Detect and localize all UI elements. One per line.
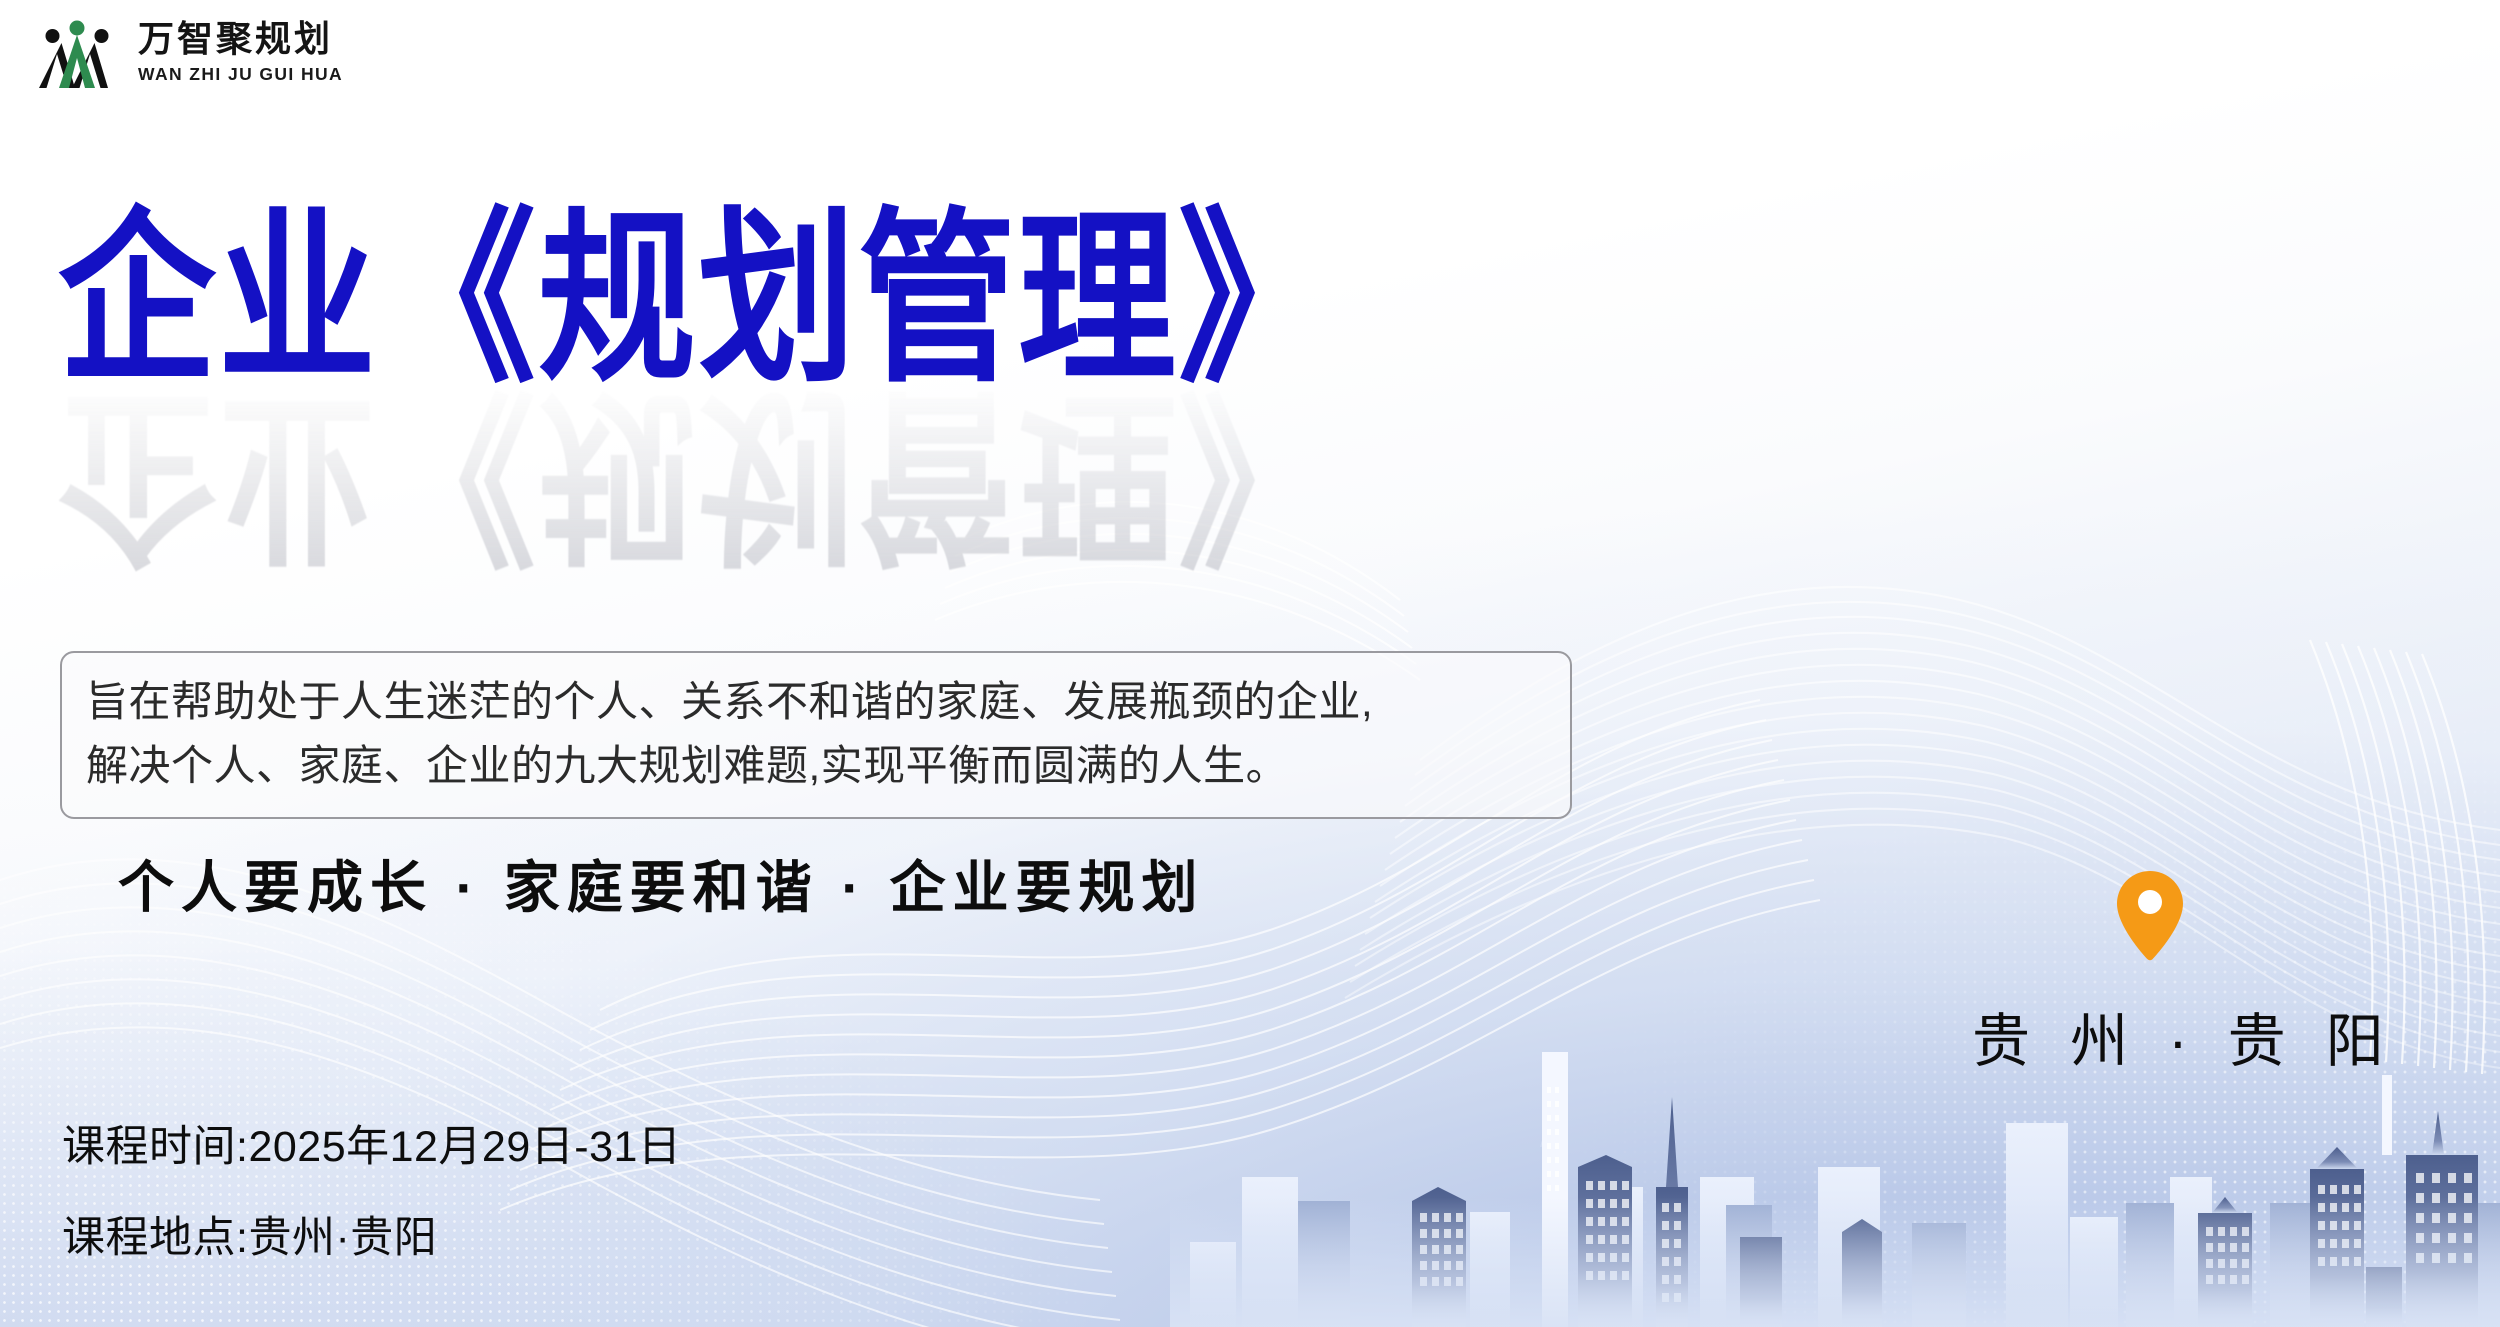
description-line-1: 旨在帮助处于人生迷茫的个人、关系不和谐的家庭、发展瓶颈的企业,: [86, 670, 1546, 734]
page-title-reflection: 企业《规划管理》: [58, 368, 1618, 577]
course-info-block: 课程时间:2025年12月29日-31日 课程地点:贵州·贵阳: [62, 1126, 681, 1260]
slogan-text: 个人要成长 · 家庭要和谐 · 企业要规划: [118, 843, 1205, 924]
three-people-logo-icon: [36, 16, 118, 90]
brand-logo-text: 万智聚规划 WAN ZHI JU GUI HUA: [138, 21, 343, 85]
location-block: 贵 州 · 贵 阳: [1960, 868, 2340, 1078]
brand-name-cn: 万智聚规划: [138, 21, 343, 59]
course-time: 课程时间:2025年12月29日-31日: [62, 1126, 681, 1169]
map-pin-icon: [2111, 868, 2189, 964]
location-city-name: 贵 州 · 贵 阳: [1960, 994, 2340, 1078]
brand-name-pinyin: WAN ZHI JU GUI HUA: [138, 64, 343, 85]
description-box: 旨在帮助处于人生迷茫的个人、关系不和谐的家庭、发展瓶颈的企业, 解决个人、家庭、…: [60, 651, 1572, 819]
description-line-2: 解决个人、家庭、企业的九大规划难题,实现平衡而圆满的人生。: [86, 734, 1546, 798]
promo-poster: 万智聚规划 WAN ZHI JU GUI HUA 企业《规划管理》 企业《规划管…: [0, 0, 2500, 1327]
brand-logo[interactable]: 万智聚规划 WAN ZHI JU GUI HUA: [36, 16, 343, 90]
course-place: 课程地点:贵州·贵阳: [62, 1217, 681, 1260]
